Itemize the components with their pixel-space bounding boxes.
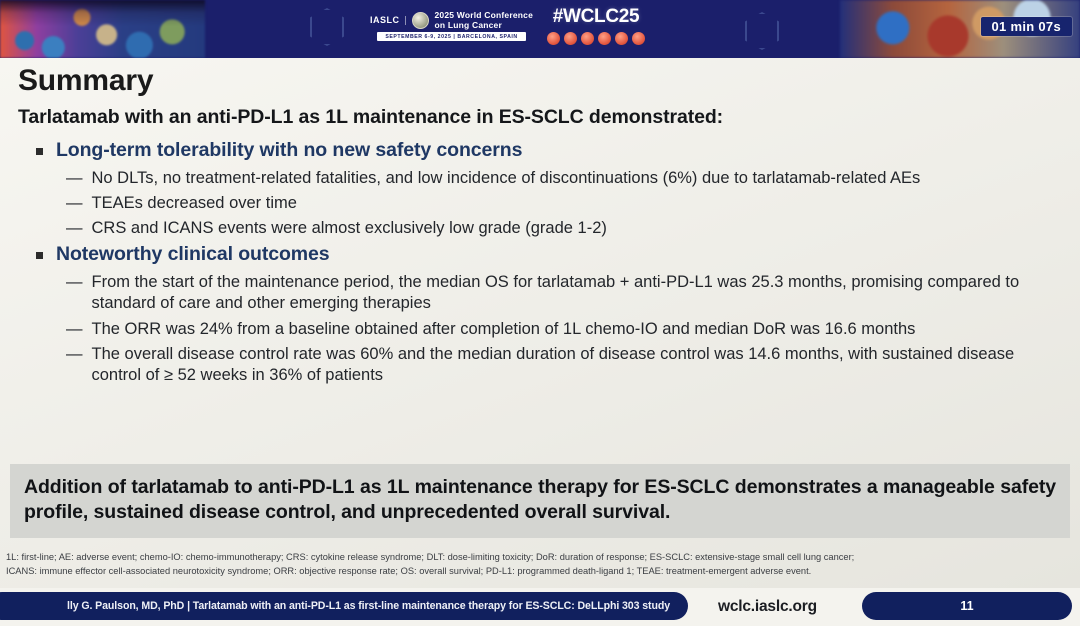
social-linkedin-icon[interactable] (598, 32, 611, 45)
list-item-text: The ORR was 24% from a baseline obtained… (92, 319, 916, 340)
slide-viewer: IASLC 2025 World Conference on Lung Canc… (0, 0, 1080, 630)
social-twitter-icon[interactable] (564, 32, 577, 45)
lead-statement: Tarlatamab with an anti-PD-L1 as 1L main… (18, 106, 1064, 129)
section-tolerability: Long-term tolerability with no new safet… (16, 139, 1064, 239)
abbreviations-footnote: 1L: first-line; AE: adverse event; chemo… (6, 550, 1076, 579)
presenter-text: lly G. Paulson, MD, PhD | Tarlatamab wit… (67, 600, 670, 612)
section-heading-row: Noteworthy clinical outcomes (36, 243, 1064, 266)
globe-icon (412, 12, 429, 29)
list-item-text: TEAEs decreased over time (92, 193, 297, 214)
social-facebook-icon[interactable] (547, 32, 560, 45)
list-item: — From the start of the maintenance peri… (66, 272, 1064, 314)
conference-banner: IASLC 2025 World Conference on Lung Canc… (0, 0, 1080, 58)
list-item-text: CRS and ICANS events were almost exclusi… (92, 218, 607, 239)
hexagon-decoration-icon (310, 8, 344, 46)
list-item-text: No DLTs, no treatment-related fatalities… (92, 168, 921, 189)
list-item-text: From the start of the maintenance period… (92, 272, 1065, 314)
iaslc-wordmark: IASLC (370, 16, 406, 25)
social-share-icon[interactable] (632, 32, 645, 45)
banner-photo-left (0, 0, 205, 58)
hexagon-decoration-icon (745, 12, 779, 50)
slide-content: Summary Tarlatamab with an anti-PD-L1 as… (0, 58, 1080, 588)
conference-hashtag: #WCLC25 (553, 6, 640, 28)
footnote-line-2: ICANS: immune effector cell-associated n… (6, 564, 1076, 578)
em-dash-icon: — (66, 193, 83, 214)
bottom-strip (0, 626, 1080, 630)
section-heading: Noteworthy clinical outcomes (56, 243, 330, 266)
footnote-line-1: 1L: first-line; AE: adverse event; chemo… (6, 550, 1076, 564)
em-dash-icon: — (66, 272, 83, 314)
conference-dates: SEPTEMBER 6-9, 2025 | BARCELONA, SPAIN (377, 32, 525, 41)
social-icons-row (547, 32, 645, 45)
list-item: — The ORR was 24% from a baseline obtain… (66, 319, 1064, 340)
iaslc-label: IASLC (370, 15, 400, 25)
em-dash-icon: — (66, 168, 83, 189)
conference-title-line1: 2025 World Conference (435, 10, 534, 20)
iaslc-logo-block: IASLC 2025 World Conference on Lung Canc… (370, 10, 533, 41)
page-title: Summary (18, 64, 1064, 98)
session-timer: 01 min 07s (981, 17, 1073, 36)
presenter-pill: lly G. Paulson, MD, PhD | Tarlatamab wit… (0, 592, 688, 620)
page-number: 11 (960, 599, 973, 613)
conference-logo-group: IASLC 2025 World Conference on Lung Canc… (370, 6, 645, 45)
list-item: — The overall disease control rate was 6… (66, 344, 1064, 386)
em-dash-icon: — (66, 344, 83, 386)
em-dash-icon: — (66, 319, 83, 340)
list-item-text: The overall disease control rate was 60%… (92, 344, 1065, 386)
section-heading-row: Long-term tolerability with no new safet… (36, 139, 1064, 162)
conference-title-line2: on Lung Cancer (435, 20, 534, 30)
hashtag-block: #WCLC25 (547, 6, 645, 45)
section-heading: Long-term tolerability with no new safet… (56, 139, 522, 162)
list-item: — CRS and ICANS events were almost exclu… (66, 218, 1064, 239)
square-bullet-icon (36, 148, 43, 155)
slide-footer: lly G. Paulson, MD, PhD | Tarlatamab wit… (0, 588, 1080, 630)
square-bullet-icon (36, 252, 43, 259)
list-item: — No DLTs, no treatment-related fataliti… (66, 168, 1064, 189)
list-item: — TEAEs decreased over time (66, 193, 1064, 214)
em-dash-icon: — (66, 218, 83, 239)
social-youtube-icon[interactable] (615, 32, 628, 45)
social-instagram-icon[interactable] (581, 32, 594, 45)
conference-title: 2025 World Conference on Lung Cancer (435, 10, 534, 30)
page-number-pill: 11 (862, 592, 1072, 620)
conference-url[interactable]: wclc.iaslc.org (718, 598, 817, 616)
section-outcomes: Noteworthy clinical outcomes — From the … (16, 243, 1064, 386)
conclusion-callout: Addition of tarlatamab to anti-PD-L1 as … (10, 464, 1070, 538)
